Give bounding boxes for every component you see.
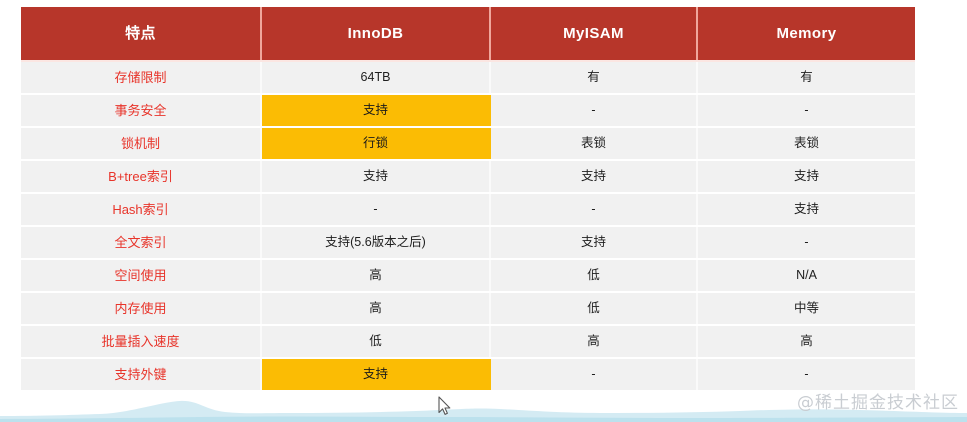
cell-feature: 支持外键 xyxy=(21,358,261,390)
column-header-feature: 特点 xyxy=(21,7,261,61)
cell-myisam: 高 xyxy=(490,325,697,358)
cell-memory: 支持 xyxy=(697,160,915,193)
cell-myisam: 低 xyxy=(490,292,697,325)
header-row: 特点 InnoDB MyISAM Memory xyxy=(21,7,915,61)
cell-feature: Hash索引 xyxy=(21,193,261,226)
cell-memory: 支持 xyxy=(697,193,915,226)
table-row: 事务安全 支持 - - xyxy=(21,94,915,127)
cell-memory: N/A xyxy=(697,259,915,292)
table-header: 特点 InnoDB MyISAM Memory xyxy=(21,7,915,61)
column-header-innodb: InnoDB xyxy=(261,7,490,61)
cell-innodb: 支持 xyxy=(261,160,490,193)
cell-memory: - xyxy=(697,94,915,127)
slide-canvas: 特点 InnoDB MyISAM Memory 存储限制 64TB 有 有 事务… xyxy=(0,0,967,422)
cell-innodb: 支持(5.6版本之后) xyxy=(261,226,490,259)
mouse-pointer-icon xyxy=(438,396,452,416)
cell-myisam: 支持 xyxy=(490,226,697,259)
table-body: 存储限制 64TB 有 有 事务安全 支持 - - 锁机制 行锁 表锁 表锁 xyxy=(21,61,915,390)
cell-innodb-highlighted: 支持 xyxy=(261,358,490,390)
cell-myisam: 低 xyxy=(490,259,697,292)
table-row: 锁机制 行锁 表锁 表锁 xyxy=(21,127,915,160)
cell-innodb: 高 xyxy=(261,292,490,325)
cell-memory: 中等 xyxy=(697,292,915,325)
cell-myisam: - xyxy=(490,358,697,390)
cell-feature: 事务安全 xyxy=(21,94,261,127)
cell-memory: - xyxy=(697,358,915,390)
cell-memory: - xyxy=(697,226,915,259)
table-row: 内存使用 高 低 中等 xyxy=(21,292,915,325)
table-row: 空间使用 高 低 N/A xyxy=(21,259,915,292)
watermark-text: @稀土掘金技术社区 xyxy=(797,388,959,413)
table-row: 存储限制 64TB 有 有 xyxy=(21,61,915,94)
cell-feature: 空间使用 xyxy=(21,259,261,292)
cell-innodb-highlighted: 行锁 xyxy=(261,127,490,160)
cell-myisam: 支持 xyxy=(490,160,697,193)
cell-feature: 锁机制 xyxy=(21,127,261,160)
cell-innodb-highlighted: 支持 xyxy=(261,94,490,127)
cell-memory: 有 xyxy=(697,61,915,94)
cell-myisam: 有 xyxy=(490,61,697,94)
table-row: Hash索引 - - 支持 xyxy=(21,193,915,226)
column-header-myisam: MyISAM xyxy=(490,7,697,61)
cell-myisam: 表锁 xyxy=(490,127,697,160)
cell-feature: 批量插入速度 xyxy=(21,325,261,358)
column-header-memory: Memory xyxy=(697,7,915,61)
table-row: 全文索引 支持(5.6版本之后) 支持 - xyxy=(21,226,915,259)
cell-feature: 内存使用 xyxy=(21,292,261,325)
table-row: 支持外键 支持 - - xyxy=(21,358,915,390)
cell-innodb: 低 xyxy=(261,325,490,358)
cell-memory: 表锁 xyxy=(697,127,915,160)
cell-myisam: - xyxy=(490,94,697,127)
cell-innodb: - xyxy=(261,193,490,226)
storage-engine-comparison-table: 特点 InnoDB MyISAM Memory 存储限制 64TB 有 有 事务… xyxy=(21,7,915,390)
cell-memory: 高 xyxy=(697,325,915,358)
table-row: 批量插入速度 低 高 高 xyxy=(21,325,915,358)
comparison-table-wrapper: 特点 InnoDB MyISAM Memory 存储限制 64TB 有 有 事务… xyxy=(21,7,915,390)
cell-innodb: 64TB xyxy=(261,61,490,94)
cell-feature: 全文索引 xyxy=(21,226,261,259)
cell-feature: 存储限制 xyxy=(21,61,261,94)
cell-myisam: - xyxy=(490,193,697,226)
cell-feature: B+tree索引 xyxy=(21,160,261,193)
table-row: B+tree索引 支持 支持 支持 xyxy=(21,160,915,193)
cell-innodb: 高 xyxy=(261,259,490,292)
